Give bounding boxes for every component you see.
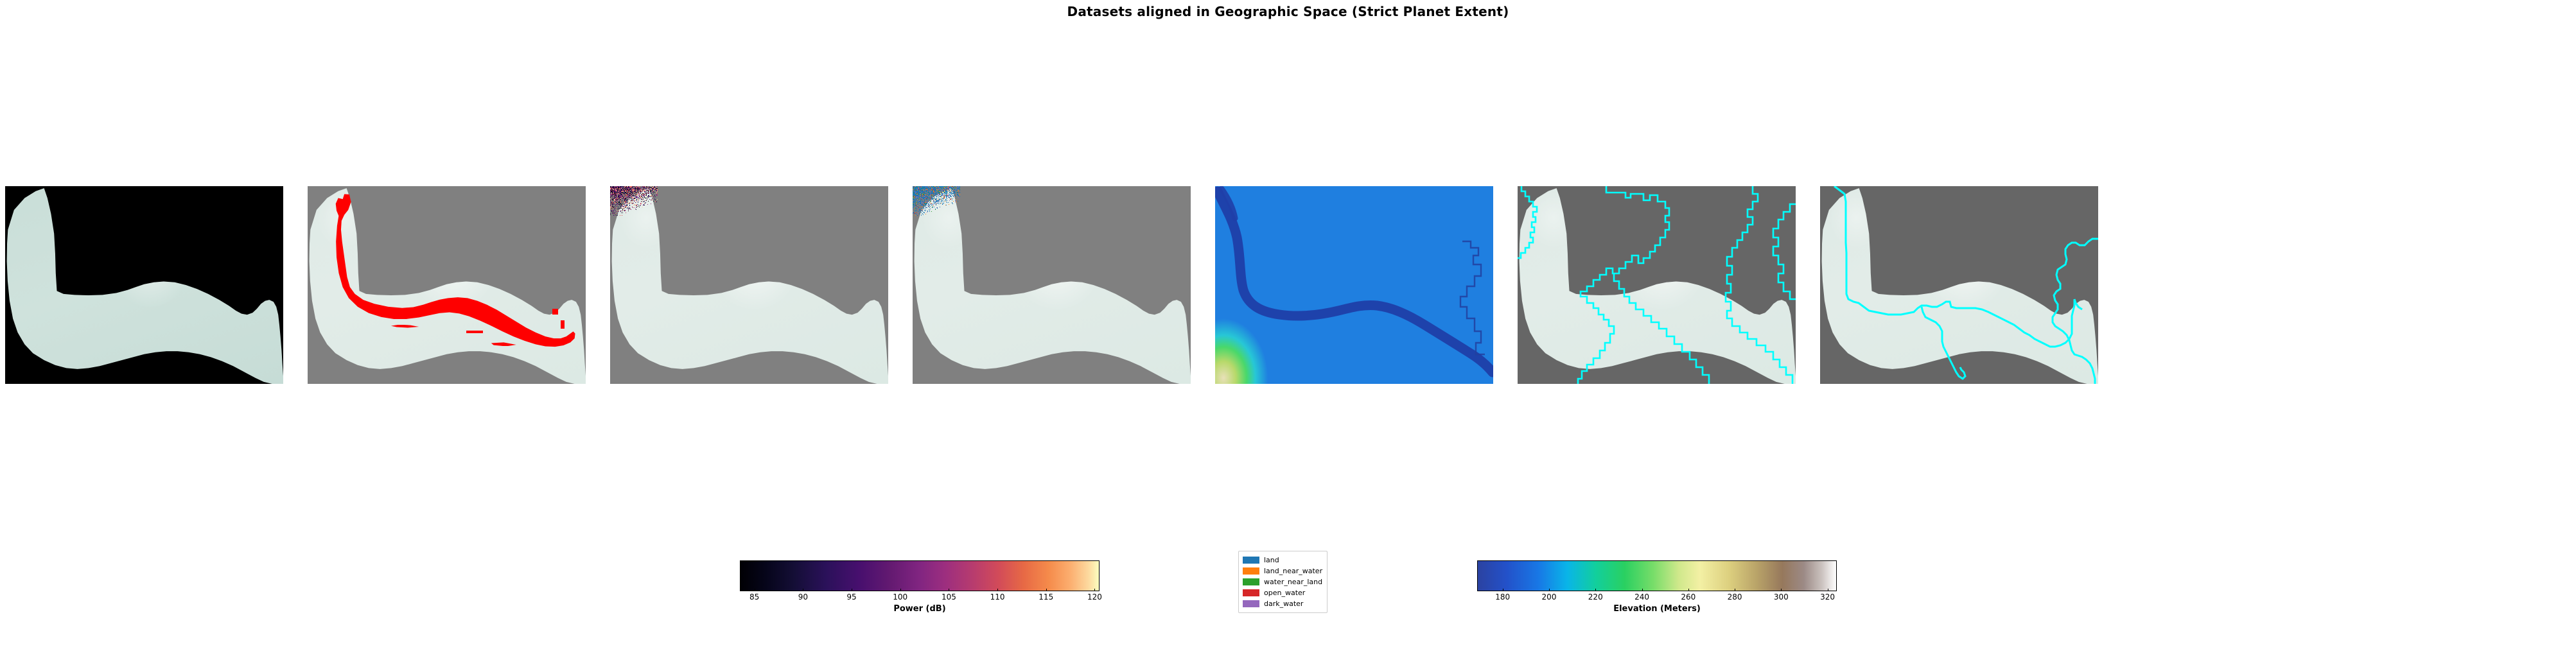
panel-planet-rgb[interactable]: Planet RGB xyxy=(5,186,283,384)
slc-ifgram-power-canvas xyxy=(610,186,888,384)
merit-rivers-canvas xyxy=(1820,186,2098,384)
tick-label: 300 xyxy=(1774,593,1789,601)
legend-swatch xyxy=(1243,567,1259,575)
water-spur xyxy=(552,309,558,315)
river-swath xyxy=(308,186,586,384)
figure-title: Datasets aligned in Geographic Space (St… xyxy=(0,4,2576,19)
tick-mark xyxy=(1046,589,1047,591)
panel-slc-ifgram-power[interactable]: SLC Ifgram Power xyxy=(610,186,888,384)
tick-label: 110 xyxy=(990,593,1005,601)
merit-basins-canvas xyxy=(1518,186,1796,384)
legend-item-water-near-land[interactable]: water_near_land xyxy=(1243,576,1322,587)
tick-mark xyxy=(1642,589,1643,591)
panel-pixc-classes[interactable]: PIXC Classes xyxy=(913,186,1191,384)
tick-mark xyxy=(852,589,852,591)
tick-mark xyxy=(949,589,949,591)
tick-label: 85 xyxy=(749,593,759,601)
legend-swatch xyxy=(1243,589,1259,596)
panel-merit-basins[interactable]: MERIT Basins xyxy=(1518,186,1796,384)
legend-label: water_near_land xyxy=(1264,578,1322,585)
tick-mark xyxy=(1595,589,1596,591)
river-swath xyxy=(913,186,1191,384)
tick-label: 105 xyxy=(942,593,956,601)
tick-label: 260 xyxy=(1681,593,1695,601)
elevation-colorbar-ticks: 180200220240260280300320 xyxy=(1477,591,1837,603)
pixc-classes-canvas xyxy=(913,186,1191,384)
tick-label: 280 xyxy=(1728,593,1742,601)
dem-river-channel xyxy=(1215,186,1493,384)
tick-label: 180 xyxy=(1495,593,1510,601)
speckle-raster xyxy=(610,186,658,216)
power-colorbar-label: Power (dB) xyxy=(740,604,1100,614)
legend-label: land xyxy=(1264,557,1279,564)
tick-mark xyxy=(1781,589,1782,591)
planet-prediction-canvas xyxy=(308,186,586,384)
tick-label: 320 xyxy=(1820,593,1835,601)
elevation-colorbar-gradient xyxy=(1477,560,1837,591)
elevation-colorbar[interactable]: 180200220240260280300320 Elevation (Mete… xyxy=(1477,560,1837,614)
legend-item-dark-water[interactable]: dark_water xyxy=(1243,598,1322,609)
tick-label: 115 xyxy=(1038,593,1053,601)
tick-mark xyxy=(900,589,901,591)
elevation-colorbar-label: Elevation (Meters) xyxy=(1477,604,1837,614)
legend-item-land[interactable]: land xyxy=(1243,555,1322,566)
legend-swatch xyxy=(1243,578,1259,585)
tick-label: 100 xyxy=(893,593,907,601)
tick-label: 120 xyxy=(1087,593,1102,601)
water-spur xyxy=(561,320,565,328)
river-swath xyxy=(5,186,283,384)
legend-label: open_water xyxy=(1264,589,1305,596)
panel-merit-rivers[interactable]: MERIT Rivers xyxy=(1820,186,2098,384)
merit-river-centerlines xyxy=(1820,186,2098,384)
panel-dem-elevation[interactable]: DEM Elevation xyxy=(1215,186,1493,384)
legend-label: land_near_water xyxy=(1264,567,1322,575)
power-colorbar-ticks: 859095100105110115120 xyxy=(740,591,1100,603)
pixc-class-points xyxy=(913,186,960,216)
tick-mark xyxy=(755,589,755,591)
tick-mark xyxy=(1688,589,1689,591)
pixc-classes-legend[interactable]: landland_near_waterwater_near_landopen_w… xyxy=(1238,551,1327,613)
tick-label: 90 xyxy=(798,593,808,601)
legend-swatch xyxy=(1243,600,1259,607)
tick-label: 200 xyxy=(1542,593,1557,601)
panel-planet-prediction[interactable]: Planet Prediction xyxy=(308,186,586,384)
legend-item-land-near-water[interactable]: land_near_water xyxy=(1243,566,1322,576)
tick-mark xyxy=(1828,589,1828,591)
merit-basin-boundaries xyxy=(1518,186,1796,384)
tick-mark xyxy=(1735,589,1735,591)
legend-item-open-water[interactable]: open_water xyxy=(1243,587,1322,598)
tick-mark xyxy=(1503,589,1503,591)
water-spur xyxy=(466,331,483,333)
power-colorbar[interactable]: 859095100105110115120 Power (dB) xyxy=(740,560,1100,614)
power-colorbar-gradient xyxy=(740,560,1100,591)
legend-swatch xyxy=(1243,557,1259,564)
tick-mark xyxy=(803,589,803,591)
dem-elevation-canvas xyxy=(1215,186,1493,384)
river-swath xyxy=(610,186,888,384)
speckle-raster xyxy=(913,186,960,216)
planet-rgb-canvas xyxy=(5,186,283,384)
tick-mark xyxy=(1549,589,1550,591)
tick-mark xyxy=(997,589,998,591)
tick-label: 240 xyxy=(1634,593,1649,601)
tick-mark xyxy=(1094,589,1095,591)
legend-label: dark_water xyxy=(1264,600,1303,607)
tick-label: 220 xyxy=(1588,593,1603,601)
tick-label: 95 xyxy=(846,593,856,601)
slc-power-speckle xyxy=(610,186,658,216)
